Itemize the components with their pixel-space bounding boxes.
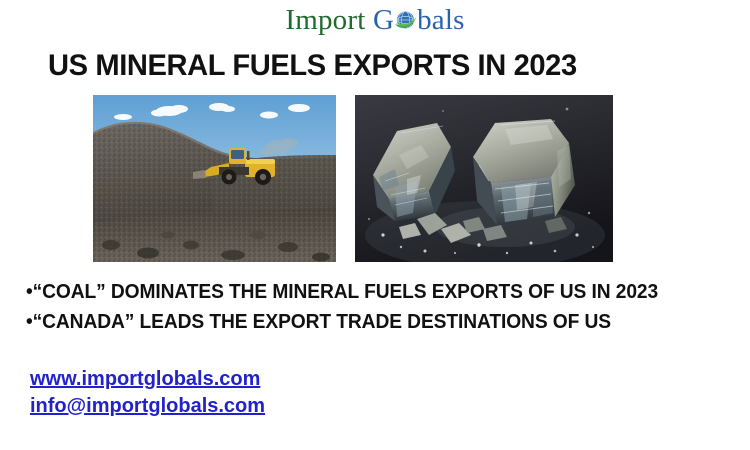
globe-icon [393, 8, 418, 33]
page-title: US MINERAL FUELS EXPORTS IN 2023 [48, 49, 688, 83]
crystal-right [473, 119, 575, 225]
brand-name-g: G [373, 4, 394, 36]
bullet-item-coal: •“COAL” DOMINATES THE MINERAL FUELS EXPO… [26, 277, 708, 307]
bullet-marker: • [26, 281, 33, 303]
coal-stockpile-photo [93, 95, 336, 262]
brand-name-import: Import [285, 4, 365, 36]
brand-logo: Import G bals [0, 6, 750, 35]
bullet-item-canada: •“CANADA” LEADS THE EXPORT TRADE DESTINA… [26, 307, 708, 337]
bullet-text: “CANADA” LEADS THE EXPORT TRADE DESTINAT… [33, 311, 611, 333]
mineral-crystals-photo [355, 95, 613, 262]
email-link[interactable]: info@importglobals.com [30, 393, 265, 420]
bullet-text: “COAL” DOMINATES THE MINERAL FUELS EXPOR… [33, 281, 658, 303]
brand-name-bals: bals [417, 4, 465, 36]
bullet-list: •“COAL” DOMINATES THE MINERAL FUELS EXPO… [26, 277, 736, 337]
bullet-marker: • [26, 311, 33, 333]
website-link[interactable]: www.importglobals.com [30, 366, 265, 393]
slide-canvas: Import G bals US MINERAL FUELS EXPORTS I… [0, 0, 750, 450]
contact-links: www.importglobals.com info@importglobals… [30, 366, 265, 420]
